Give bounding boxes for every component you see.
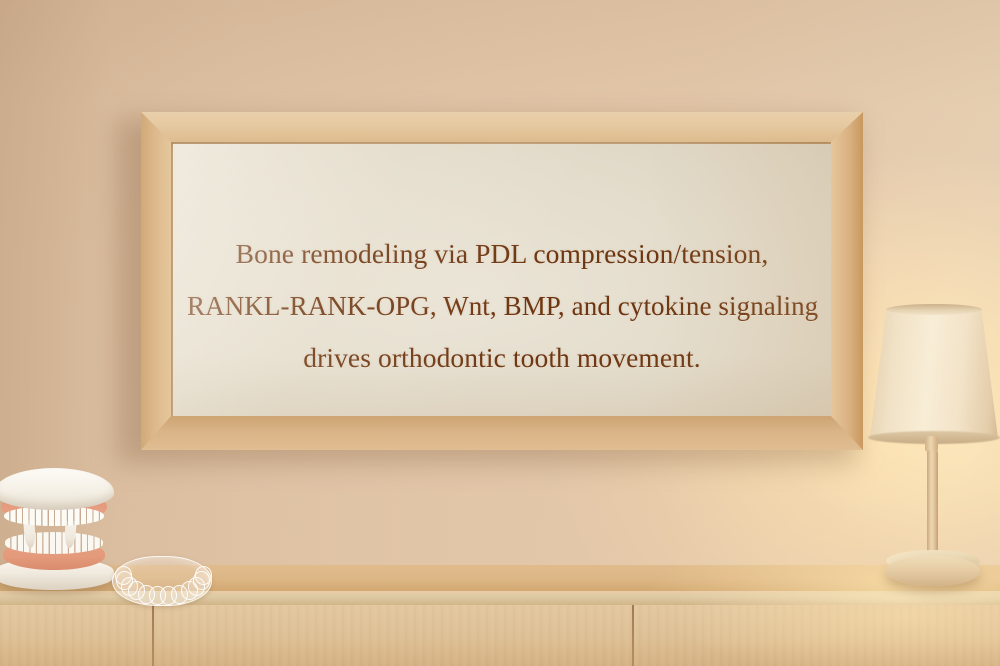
- lamp-shade-top-rim: [886, 304, 982, 315]
- sideboard-cabinet-front: [0, 605, 1000, 666]
- clear-dental-aligner[interactable]: [112, 556, 212, 606]
- room-scene: Bone remodeling via PDL compression/tens…: [0, 0, 1000, 666]
- lamp-base: [886, 556, 980, 586]
- quote-line-2: RANKL-RANK-OPG, Wnt, BMP, and cytokine s…: [187, 280, 817, 332]
- poster-canvas: Bone remodeling via PDL compression/tens…: [173, 144, 831, 416]
- picture-frame[interactable]: Bone remodeling via PDL compression/tens…: [141, 112, 863, 450]
- table-lamp-body[interactable]: [862, 308, 1000, 600]
- frame-rail-top: [141, 112, 863, 142]
- aligner-tooth-cell: [195, 566, 212, 585]
- quote-text-block: Bone remodeling via PDL compression/tens…: [173, 228, 831, 384]
- typodont-palate: [0, 468, 114, 510]
- cabinet-door-seam: [632, 605, 634, 666]
- quote-line-3: drives orthodontic tooth movement.: [187, 332, 817, 384]
- quote-line-1: Bone remodeling via PDL compression/tens…: [187, 228, 817, 280]
- typodont-lower-teeth: [5, 532, 103, 554]
- frame-rail-right: [831, 112, 863, 450]
- cabinet-door-seam: [152, 605, 154, 666]
- frame-rail-bottom: [141, 416, 863, 450]
- dental-jaw-model[interactable]: [0, 462, 124, 597]
- lamp-shade: [870, 308, 998, 438]
- frame-rail-left: [141, 112, 171, 450]
